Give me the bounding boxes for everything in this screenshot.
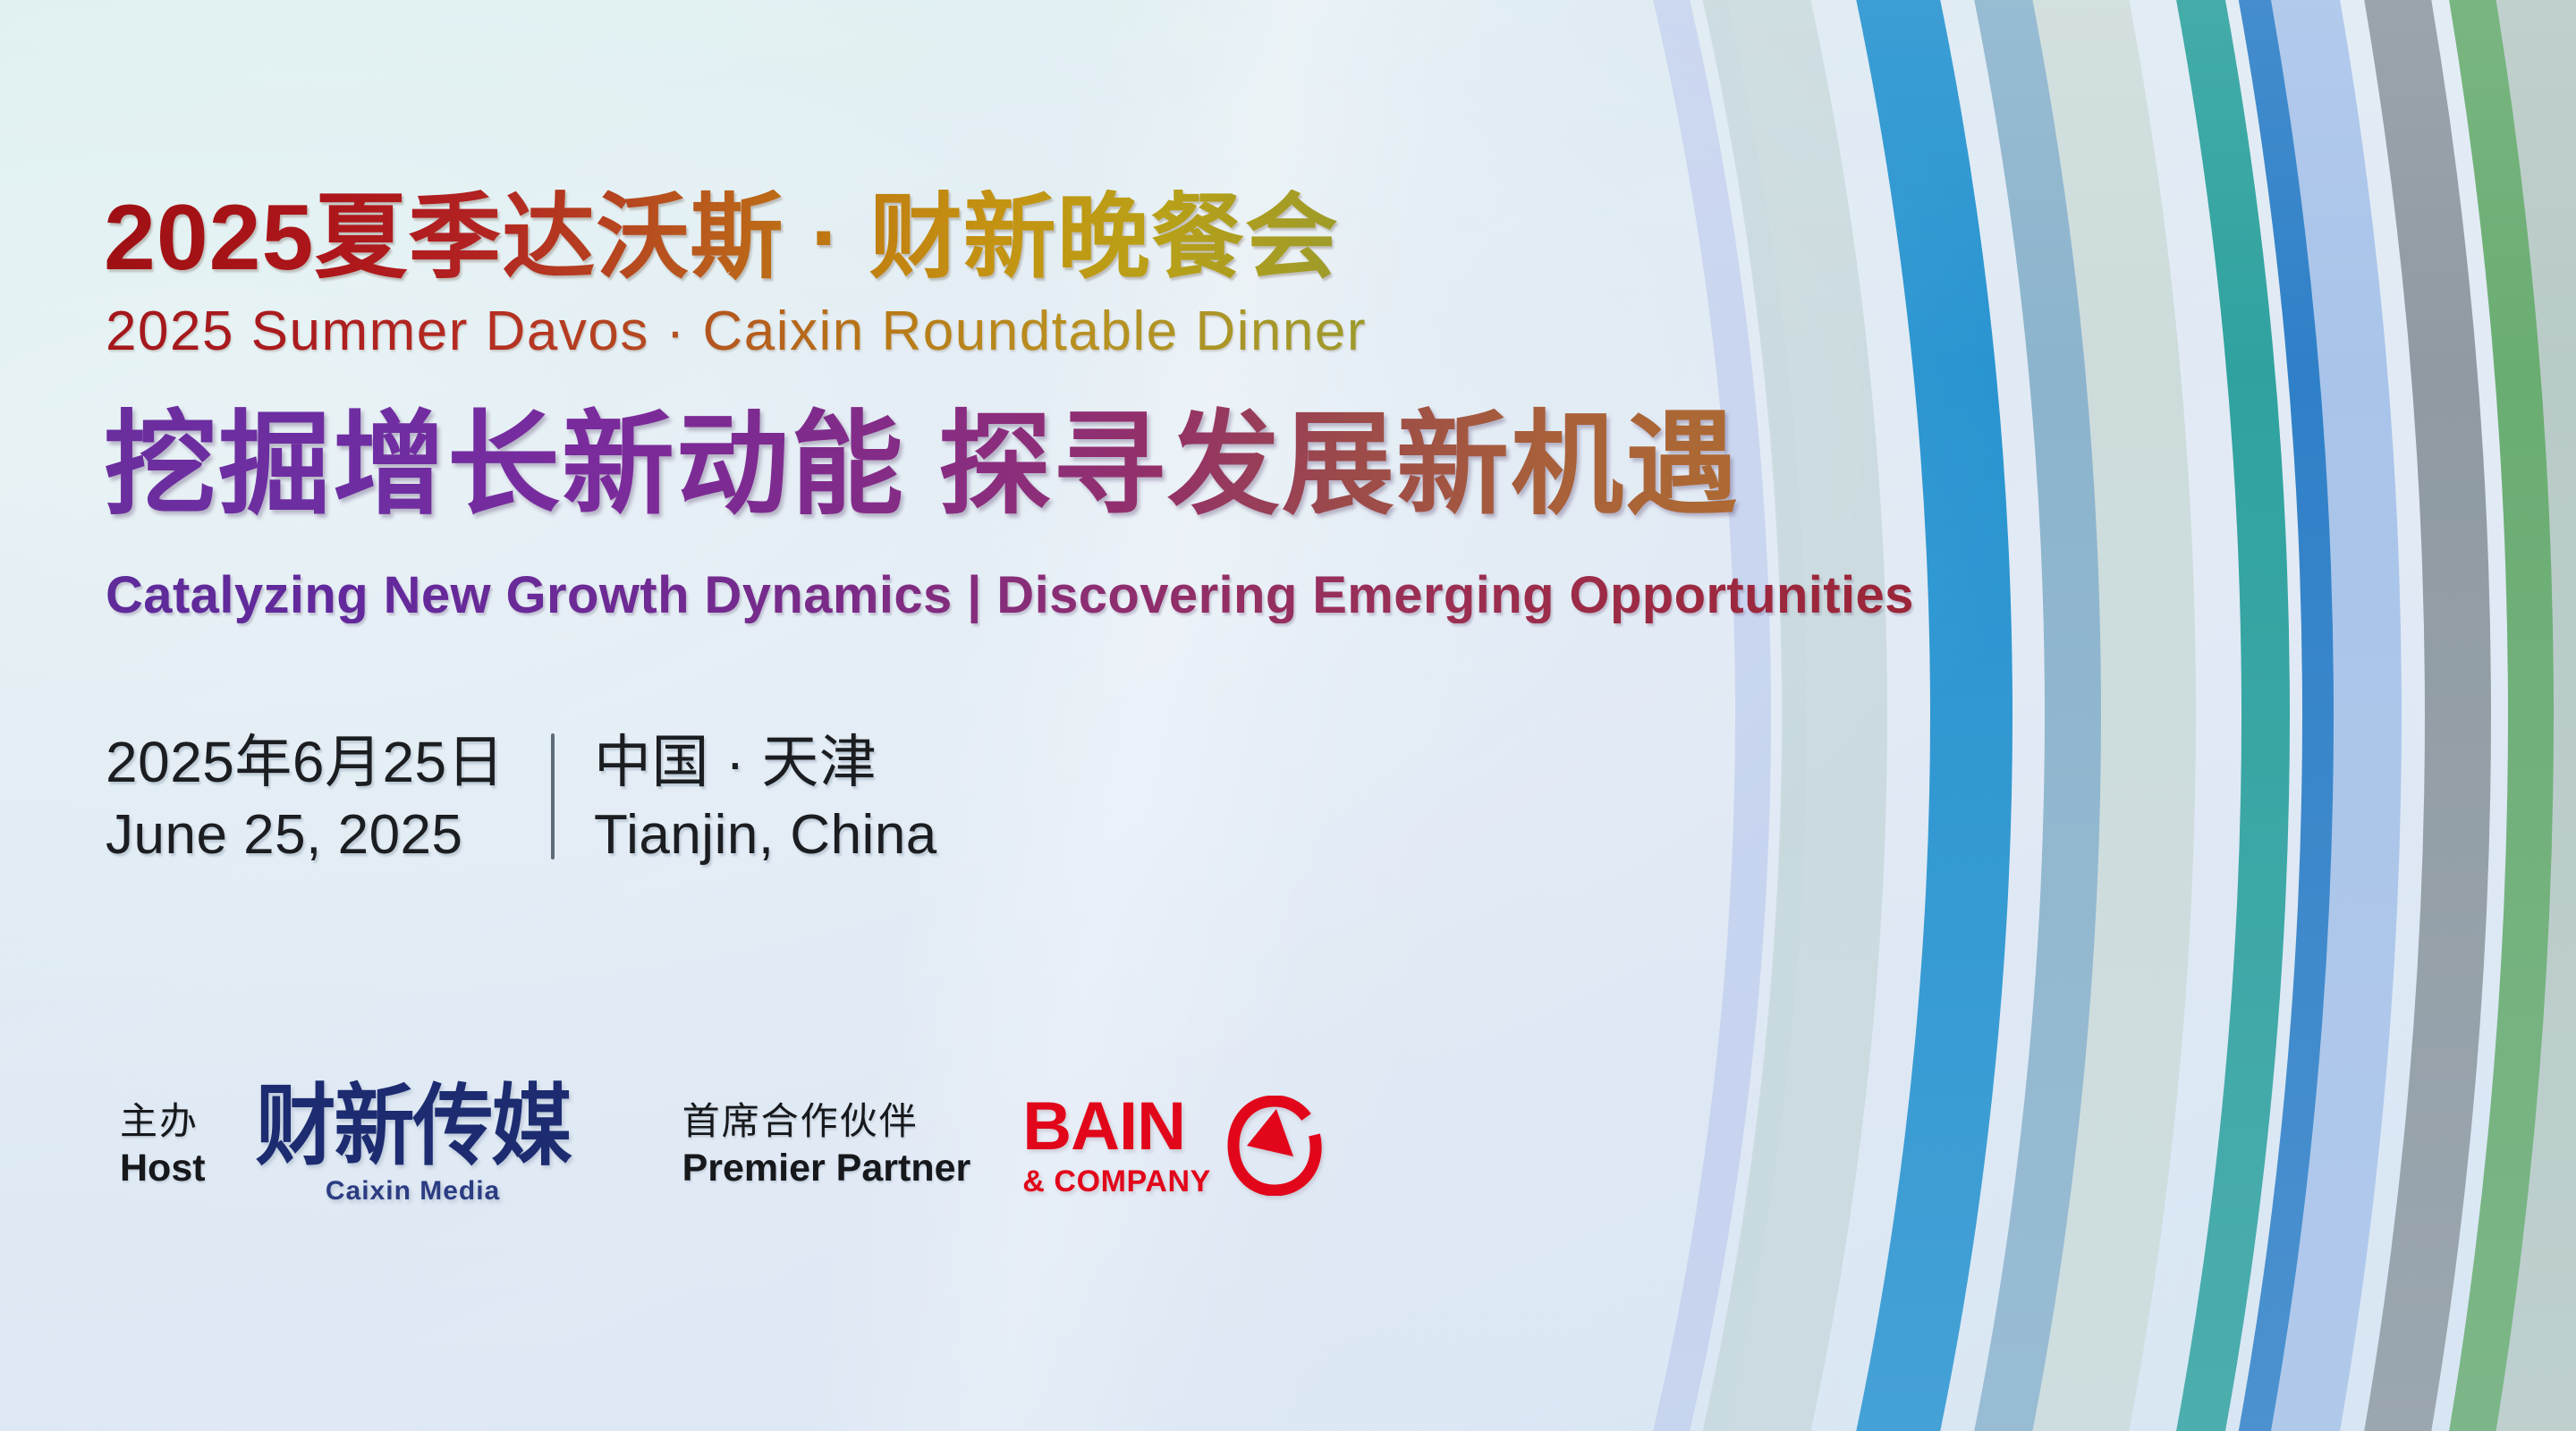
- headline-cn: 挖掘增长新动能 探寻发展新机遇: [104, 404, 1740, 526]
- host-role-cn: 主办: [120, 1098, 206, 1145]
- bain-logo-words: BAIN & COMPANY: [1022, 1095, 1211, 1197]
- event-title-en: 2025 Summer Davos · Caixin Roundtable Di…: [106, 302, 1367, 360]
- location-block: 中国 · 天津 Tianjin, China: [594, 726, 937, 870]
- premier-partner-role-cn: 首席合作伙伴: [682, 1098, 971, 1145]
- partner-row: 主办 Host 财新传媒 Caixin Media 首席合作伙伴 Premier…: [120, 1087, 1322, 1205]
- date-cn: 2025年6月25日: [106, 726, 551, 800]
- bain-company-logo: BAIN & COMPANY: [1022, 1095, 1322, 1197]
- date-en: June 25, 2025: [106, 800, 551, 870]
- date-block: 2025年6月25日 June 25, 2025: [106, 726, 551, 870]
- host-role: 主办 Host: [120, 1098, 206, 1192]
- event-title-cn: 2025夏季达沃斯 · 财新晚餐会: [104, 190, 1339, 287]
- event-date-location: 2025年6月25日 June 25, 2025 中国 · 天津 Tianjin…: [106, 726, 937, 870]
- caixin-media-logo: 财新传媒 Caixin Media: [256, 1087, 571, 1205]
- premier-partner-role-en: Premier Partner: [682, 1145, 971, 1192]
- location-en: Tianjin, China: [594, 800, 937, 870]
- premier-partner-role: 首席合作伙伴 Premier Partner: [682, 1098, 971, 1192]
- vertical-divider: [551, 733, 555, 859]
- conference-backdrop: 2025夏季达沃斯 · 财新晚餐会 2025 Summer Davos · Ca…: [0, 0, 2576, 1431]
- host-role-en: Host: [120, 1145, 206, 1192]
- location-cn: 中国 · 天津: [594, 726, 937, 800]
- caixin-logo-cn: 财新传媒: [256, 1083, 571, 1172]
- caixin-logo-en: Caixin Media: [326, 1178, 500, 1205]
- bain-logo-subname: & COMPANY: [1022, 1166, 1211, 1197]
- headline-en: Catalyzing New Growth Dynamics | Discove…: [106, 569, 1914, 623]
- bain-logo-name: BAIN: [1022, 1095, 1211, 1159]
- bain-circle-triangle-icon: [1227, 1096, 1322, 1196]
